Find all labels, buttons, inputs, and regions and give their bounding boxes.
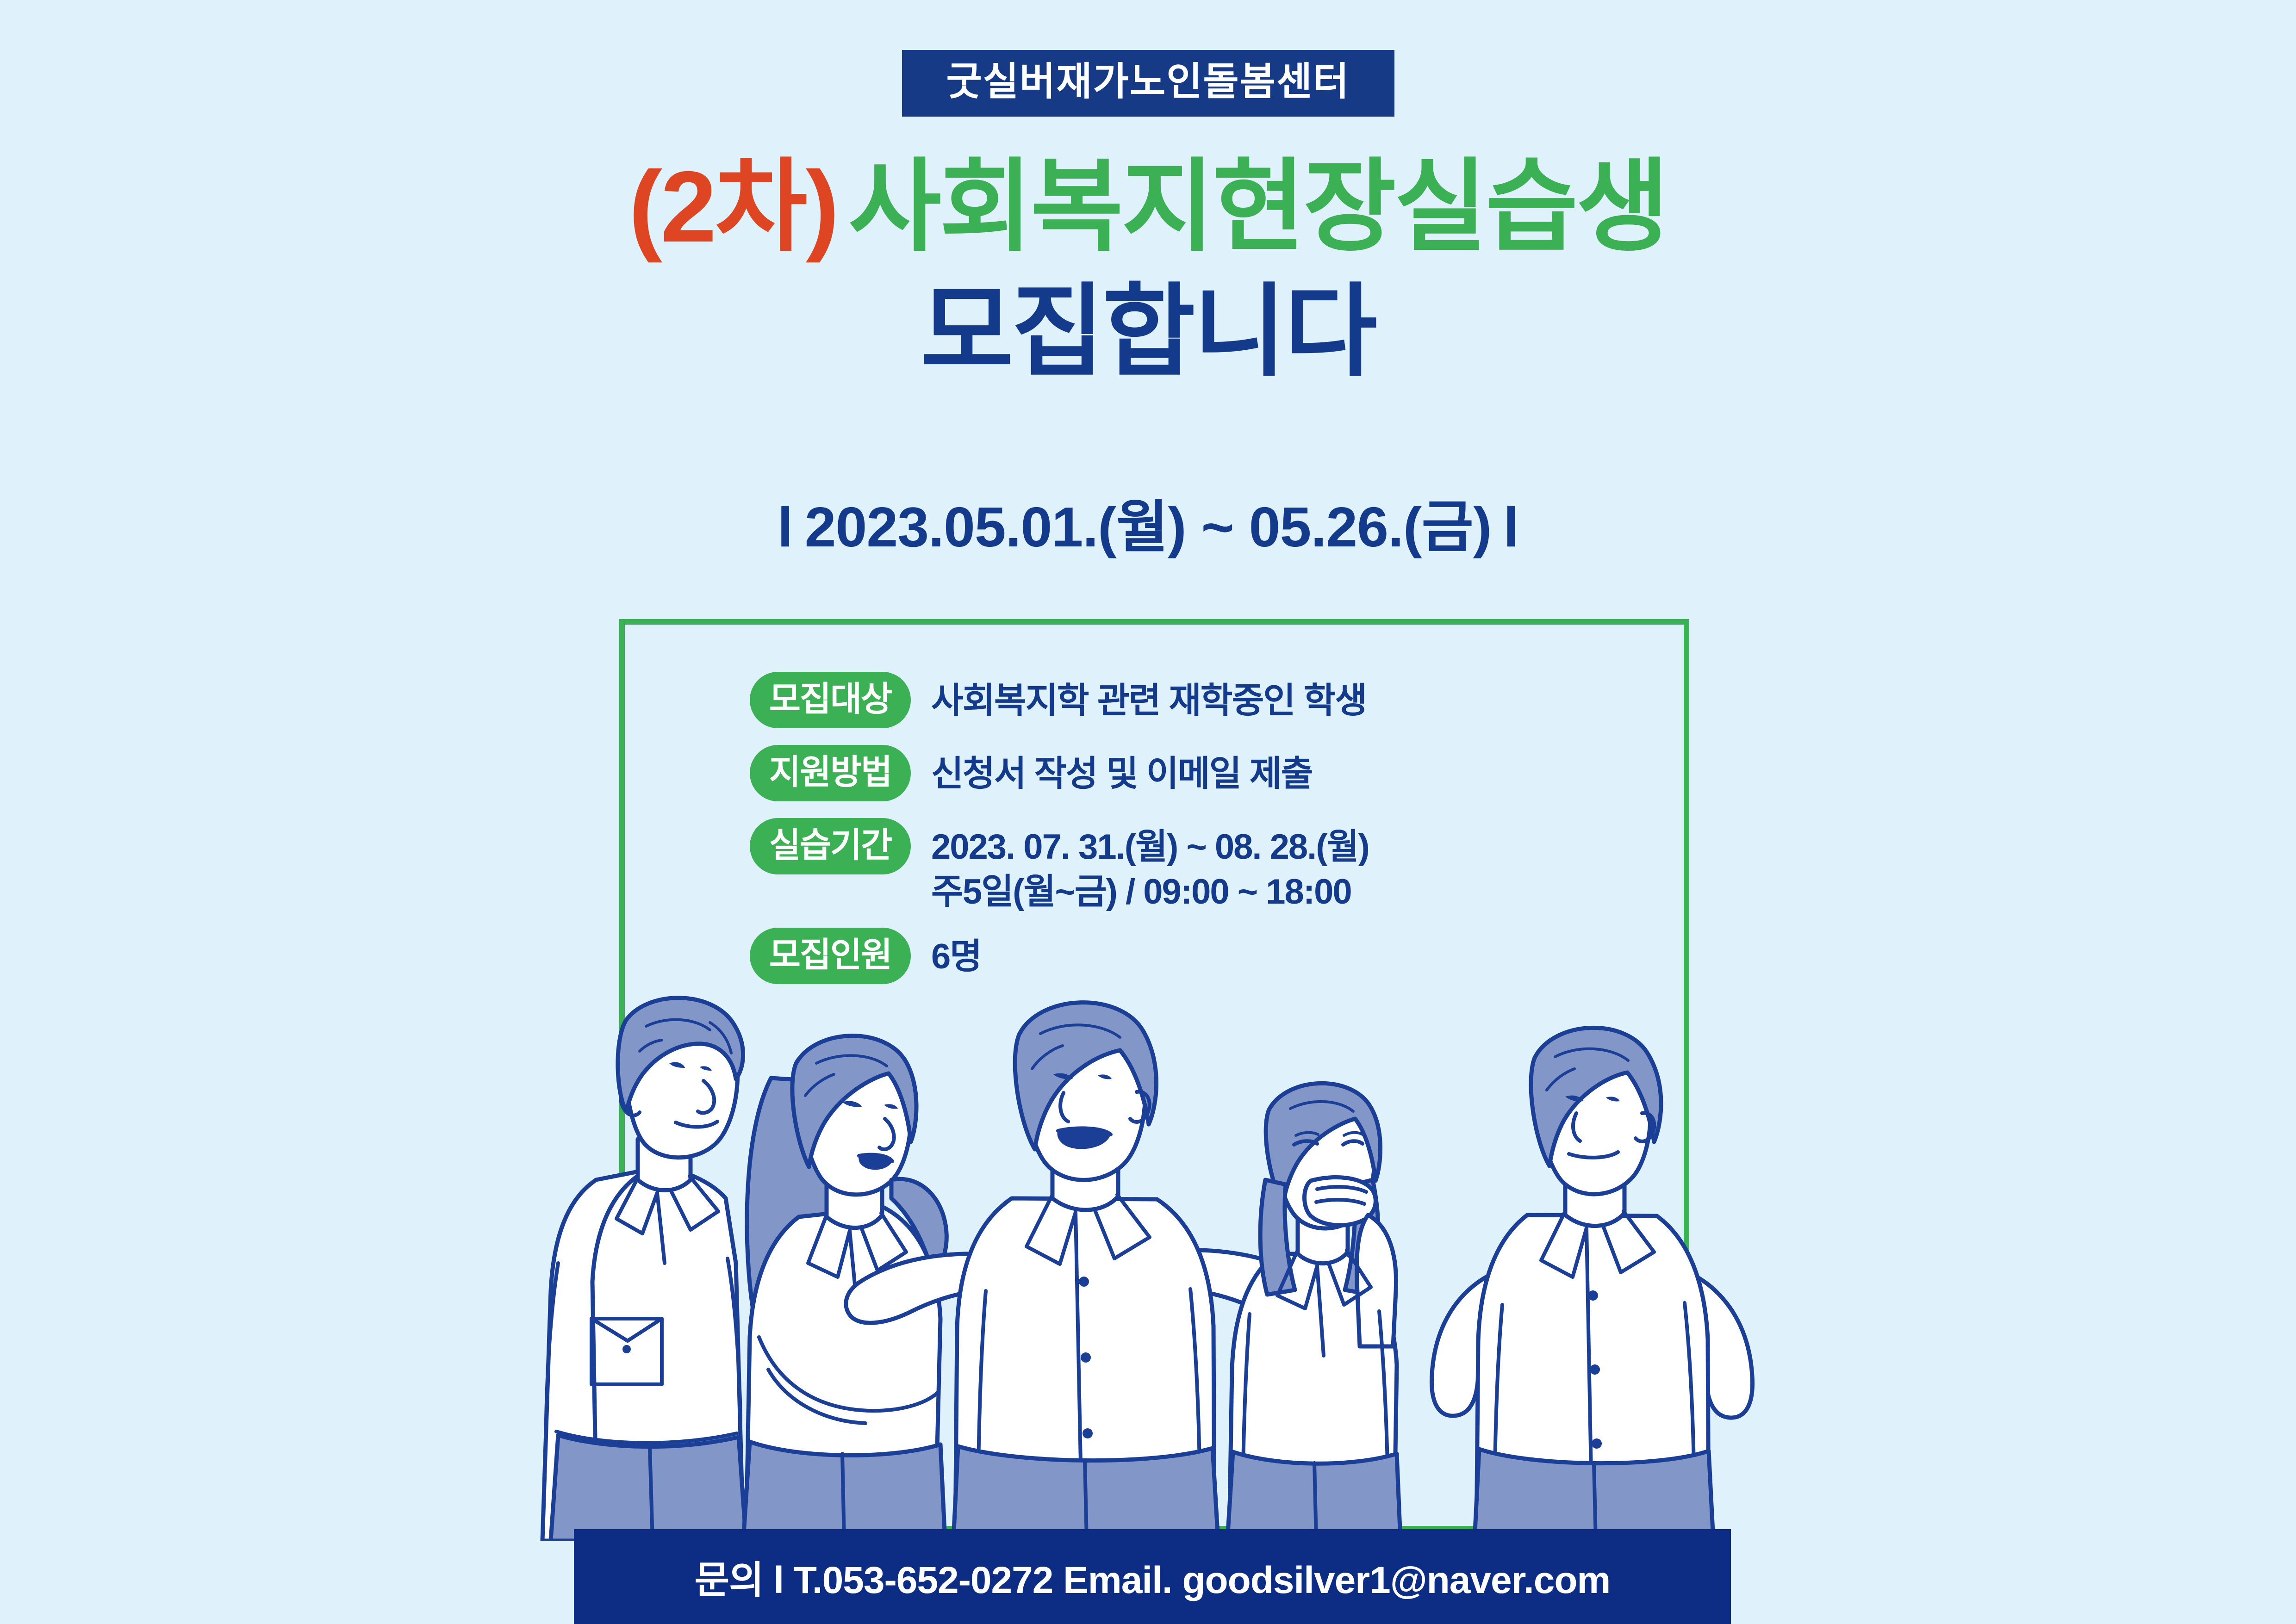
- organization-badge: 굿실버재가노인돌봄센터: [902, 50, 1394, 117]
- info-value-period-dates: 2023. 07. 31.(월) ~ 08. 28.(월): [931, 824, 1675, 869]
- info-tag-method: 지원방법: [750, 745, 911, 801]
- figure-1-man-left: [542, 998, 746, 1541]
- info-value-method: 신청서 작성 및 이메일 제출: [931, 745, 1675, 796]
- title-main-label: 사회복지현장실습생: [848, 151, 1667, 263]
- info-row-target: 모집대상 사회복지학 관련 재학중인 학생: [750, 672, 1675, 728]
- contact-footer-bar: 문의 l T.053-652-0272 Email. goodsilver1@n…: [574, 1529, 1731, 1624]
- info-value-target: 사회복지학 관련 재학중인 학생: [931, 672, 1675, 723]
- figure-5-man-right: [1431, 1028, 1752, 1541]
- date-right-bar-icon: l: [1503, 496, 1518, 558]
- info-tag-period: 실습기간: [750, 818, 911, 874]
- info-row-method: 지원방법 신청서 작성 및 이메일 제출: [750, 745, 1675, 801]
- poster-root: 굿실버재가노인돌봄센터 (2차)사회복지현장실습생 모집합니다 l2023.05…: [0, 0, 2296, 1624]
- info-row-period: 실습기간 2023. 07. 31.(월) ~ 08. 28.(월) 주5일(월…: [750, 818, 1675, 915]
- contact-footer-text: 문의 l T.053-652-0272 Email. goodsilver1@n…: [695, 1549, 1611, 1604]
- info-value-period: 2023. 07. 31.(월) ~ 08. 28.(월) 주5일(월~금) /…: [931, 818, 1675, 915]
- students-group-illustration: .sk { fill:#ffffff; stroke:#1b3f96; stro…: [518, 939, 1814, 1541]
- students-group-svg: .sk { fill:#ffffff; stroke:#1b3f96; stro…: [518, 939, 1814, 1541]
- date-left-bar-icon: l: [778, 496, 793, 558]
- figure-4-woman-hand-mouth: [1227, 1083, 1400, 1541]
- date-range-text: 2023.05.01.(월) ~ 05.26.(금): [805, 496, 1492, 558]
- info-value-period-hours: 주5일(월~금) / 09:00 ~ 18:00: [931, 869, 1675, 914]
- page-title-line-1: (2차)사회복지현장실습생: [0, 153, 2296, 261]
- page-title-line-2: 모집합니다: [0, 278, 2296, 386]
- recruitment-date-line: l2023.05.01.(월) ~ 05.26.(금)l: [0, 481, 2296, 563]
- title-round-label: (2차): [628, 151, 837, 263]
- info-tag-target: 모집대상: [750, 672, 911, 728]
